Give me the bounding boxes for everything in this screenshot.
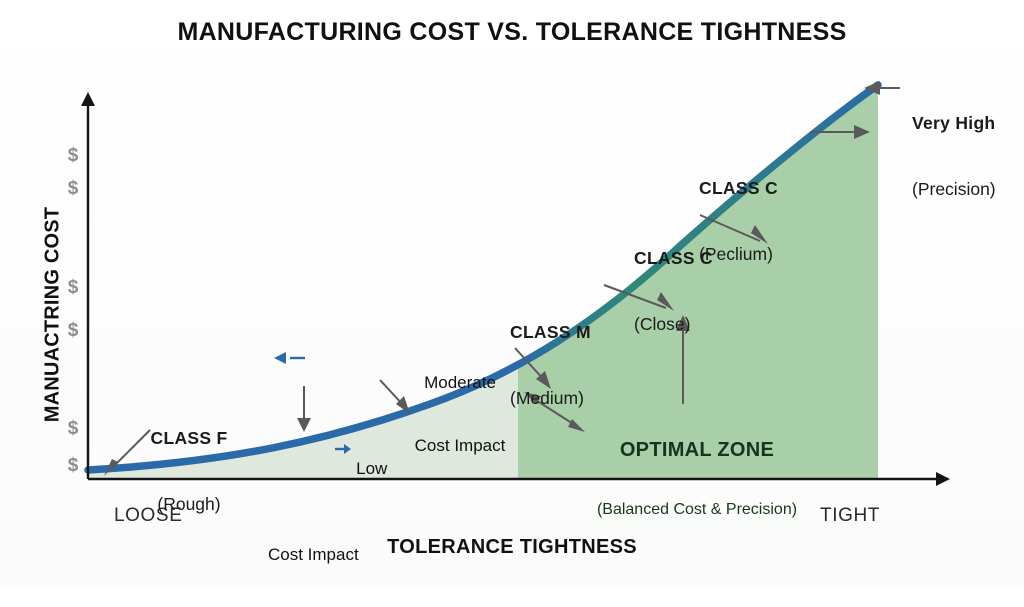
annotation-class-f-head: CLASS F bbox=[138, 427, 240, 449]
annotation-class-c-close-sub: (Close) bbox=[634, 313, 713, 335]
annotation-class-f: CLASS F (Rough) bbox=[138, 383, 240, 559]
annotation-moderate-cost: Moderate Cost Impact bbox=[394, 330, 526, 498]
annotation-very-high-head: Very High bbox=[912, 112, 996, 134]
x-axis-label-tight: TIGHT bbox=[820, 505, 880, 527]
annotation-class-m-head: CLASS M bbox=[510, 321, 591, 343]
chart-canvas: MANUFACTURING COST VS. TOLERANCE TIGHTNE… bbox=[0, 0, 1024, 585]
y-tick-label-2: $ bbox=[62, 418, 84, 440]
optimal-zone-subtitle: (Balanced Cost & Precision) bbox=[578, 501, 816, 519]
y-tick-label-5: $ bbox=[62, 178, 84, 200]
y-tick-label-6: $ bbox=[62, 145, 84, 167]
annotation-very-high: Very High (Precision) bbox=[912, 68, 996, 244]
y-tick-label-4: $ bbox=[62, 277, 84, 299]
annotation-class-c-precision-sub: (Peclium) bbox=[699, 243, 778, 265]
annotation-low-cost-head-row: Low bbox=[268, 397, 387, 502]
annotation-low-cost-sub: Cost Impact bbox=[268, 544, 387, 565]
page-title: MANUFACTURING COST VS. TOLERANCE TIGHTNE… bbox=[0, 18, 1024, 47]
annotation-low-cost: Low Cost Impact bbox=[268, 355, 387, 607]
annotation-very-high-sub: (Precision) bbox=[912, 178, 996, 200]
annotation-moderate-cost-sub: Cost Impact bbox=[394, 435, 526, 456]
annotation-class-c-precision-head: CLASS C bbox=[699, 177, 778, 199]
annotation-class-f-sub: (Rough) bbox=[138, 493, 240, 515]
y-tick-label-3: $ bbox=[62, 320, 84, 342]
arrow-right-icon bbox=[296, 418, 352, 481]
optimal-zone-title: OPTIMAL ZONE bbox=[578, 439, 816, 462]
annotation-class-c-precision: CLASS C (Peclium) bbox=[699, 133, 778, 309]
y-tick-label-1: $ bbox=[62, 455, 84, 477]
annotation-low-cost-head: Low bbox=[356, 459, 387, 478]
annotation-optimal-zone: OPTIMAL ZONE (Balanced Cost & Precision) bbox=[578, 403, 816, 555]
annotation-moderate-cost-head: Moderate bbox=[394, 372, 526, 393]
